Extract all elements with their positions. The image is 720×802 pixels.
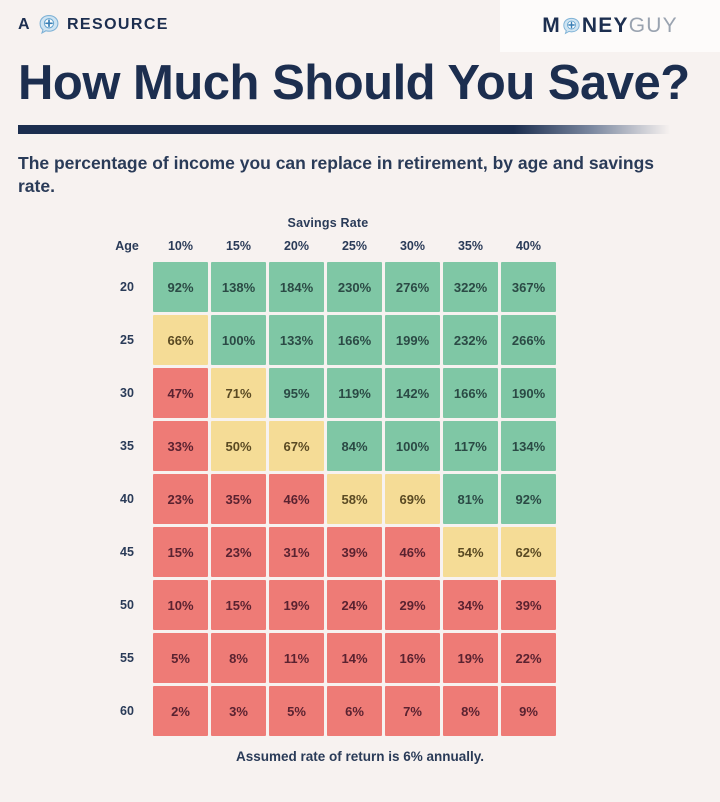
heatmap-cell: 8% xyxy=(443,686,498,736)
table-row: 602%3%5%6%7%8%9% xyxy=(104,686,556,736)
heatmap-cell: 190% xyxy=(501,368,556,418)
heatmap-cell: 46% xyxy=(385,527,440,577)
heatmap-cell: 5% xyxy=(269,686,324,736)
heatmap-cell: 166% xyxy=(327,315,382,365)
row-header-age-40: 40 xyxy=(104,474,150,524)
heatmap-cell: 69% xyxy=(385,474,440,524)
row-header-age-55: 55 xyxy=(104,633,150,683)
row-header-age-25: 25 xyxy=(104,315,150,365)
heatmap-cell: 276% xyxy=(385,262,440,312)
table-row: 5010%15%19%24%29%34%39% xyxy=(104,580,556,630)
heatmap-cell: 367% xyxy=(501,262,556,312)
row-header-age-20: 20 xyxy=(104,262,150,312)
heatmap-cell: 58% xyxy=(327,474,382,524)
heatmap-cell: 322% xyxy=(443,262,498,312)
heatmap-container: Savings Rate Age 10%15%20%25%30%35%40% 2… xyxy=(0,216,720,764)
heatmap-cell: 81% xyxy=(443,474,498,524)
column-header-4: 30% xyxy=(385,237,440,259)
heatmap-cell: 10% xyxy=(153,580,208,630)
heatmap-cell: 100% xyxy=(385,421,440,471)
heatmap-cell: 3% xyxy=(211,686,266,736)
brand-money-rest: NEY xyxy=(582,14,629,38)
heatmap-cell: 6% xyxy=(327,686,382,736)
table-row: 2566%100%133%166%199%232%266% xyxy=(104,315,556,365)
heatmap-cell: 34% xyxy=(443,580,498,630)
table-row: 4515%23%31%39%46%54%62% xyxy=(104,527,556,577)
heatmap-body: 2092%138%184%230%276%322%367%2566%100%13… xyxy=(104,262,556,736)
brand-logo-panel: M NEY GUY xyxy=(500,0,720,52)
heatmap-cell: 8% xyxy=(211,633,266,683)
column-header-6: 40% xyxy=(501,237,556,259)
table-row: 3533%50%67%84%100%117%134% xyxy=(104,421,556,471)
heatmap-cell: 47% xyxy=(153,368,208,418)
heatmap-cell: 67% xyxy=(269,421,324,471)
heatmap-cell: 232% xyxy=(443,315,498,365)
heatmap-cell: 92% xyxy=(153,262,208,312)
heatmap-cell: 31% xyxy=(269,527,324,577)
table-header-row: Age 10%15%20%25%30%35%40% xyxy=(104,237,556,259)
heatmap-cell: 84% xyxy=(327,421,382,471)
row-header-age-50: 50 xyxy=(104,580,150,630)
heatmap-cell: 119% xyxy=(327,368,382,418)
heatmap-cell: 166% xyxy=(443,368,498,418)
heatmap-cell: 15% xyxy=(211,580,266,630)
column-header-1: 15% xyxy=(211,237,266,259)
heatmap-cell: 54% xyxy=(443,527,498,577)
heatmap-cell: 14% xyxy=(327,633,382,683)
heatmap-cell: 138% xyxy=(211,262,266,312)
heatmap-cell: 35% xyxy=(211,474,266,524)
column-header-0: 10% xyxy=(153,237,208,259)
heatmap-cell: 33% xyxy=(153,421,208,471)
heatmap-cell: 5% xyxy=(153,633,208,683)
row-header-age-45: 45 xyxy=(104,527,150,577)
row-header-age-60: 60 xyxy=(104,686,150,736)
heatmap-cell: 39% xyxy=(501,580,556,630)
table-row: 555%8%11%14%16%19%22% xyxy=(104,633,556,683)
heatmap-cell: 23% xyxy=(211,527,266,577)
heatmap-cell: 92% xyxy=(501,474,556,524)
resource-prefix-label: A xyxy=(18,16,31,34)
table-row: 3047%71%95%119%142%166%190% xyxy=(104,368,556,418)
heatmap-cell: 9% xyxy=(501,686,556,736)
age-axis-label: Age xyxy=(104,237,150,259)
heatmap-cell: 62% xyxy=(501,527,556,577)
heatmap-cell: 230% xyxy=(327,262,382,312)
heatmap-cell: 134% xyxy=(501,421,556,471)
heatmap-cell: 142% xyxy=(385,368,440,418)
heatmap-cell: 23% xyxy=(153,474,208,524)
heatmap-cell: 199% xyxy=(385,315,440,365)
heatmap-cell: 15% xyxy=(153,527,208,577)
heatmap-cell: 19% xyxy=(443,633,498,683)
table-row: 2092%138%184%230%276%322%367% xyxy=(104,262,556,312)
heatmap-cell: 39% xyxy=(327,527,382,577)
moneyguy-logo: M NEY GUY xyxy=(542,14,678,38)
resource-label: RESOURCE xyxy=(67,16,169,34)
savings-heatmap-table: Age 10%15%20%25%30%35%40% 2092%138%184%2… xyxy=(101,234,559,739)
brand-money-text: M NEY xyxy=(542,14,628,38)
heatmap-cell: 184% xyxy=(269,262,324,312)
heatmap-cell: 11% xyxy=(269,633,324,683)
heatmap-cell: 24% xyxy=(327,580,382,630)
heatmap-cell: 7% xyxy=(385,686,440,736)
brand-guy-text: GUY xyxy=(629,14,678,38)
page-title: How Much Should You Save? xyxy=(18,58,720,109)
column-header-5: 35% xyxy=(443,237,498,259)
bubble-plus-icon xyxy=(561,17,582,36)
heatmap-cell: 46% xyxy=(269,474,324,524)
bubble-plus-icon xyxy=(38,14,60,36)
heatmap-cell: 66% xyxy=(153,315,208,365)
heatmap-cell: 2% xyxy=(153,686,208,736)
heatmap-cell: 266% xyxy=(501,315,556,365)
heatmap-cell: 19% xyxy=(269,580,324,630)
page-subtitle: The percentage of income you can replace… xyxy=(18,152,690,198)
heatmap-cell: 50% xyxy=(211,421,266,471)
heatmap-cell: 117% xyxy=(443,421,498,471)
heatmap-cell: 29% xyxy=(385,580,440,630)
resource-badge: A RESOURCE xyxy=(18,14,169,36)
savings-rate-axis-label: Savings Rate xyxy=(0,216,566,230)
footnote: Assumed rate of return is 6% annually. xyxy=(0,749,720,764)
column-header-2: 20% xyxy=(269,237,324,259)
title-divider xyxy=(18,125,670,134)
table-row: 4023%35%46%58%69%81%92% xyxy=(104,474,556,524)
heatmap-cell: 133% xyxy=(269,315,324,365)
brand-money-m: M xyxy=(542,14,561,38)
heatmap-cell: 71% xyxy=(211,368,266,418)
column-header-3: 25% xyxy=(327,237,382,259)
heatmap-cell: 95% xyxy=(269,368,324,418)
heatmap-cell: 16% xyxy=(385,633,440,683)
heatmap-cell: 22% xyxy=(501,633,556,683)
heatmap-cell: 100% xyxy=(211,315,266,365)
row-header-age-35: 35 xyxy=(104,421,150,471)
row-header-age-30: 30 xyxy=(104,368,150,418)
page-header: A RESOURCE M NEY G xyxy=(0,0,720,52)
